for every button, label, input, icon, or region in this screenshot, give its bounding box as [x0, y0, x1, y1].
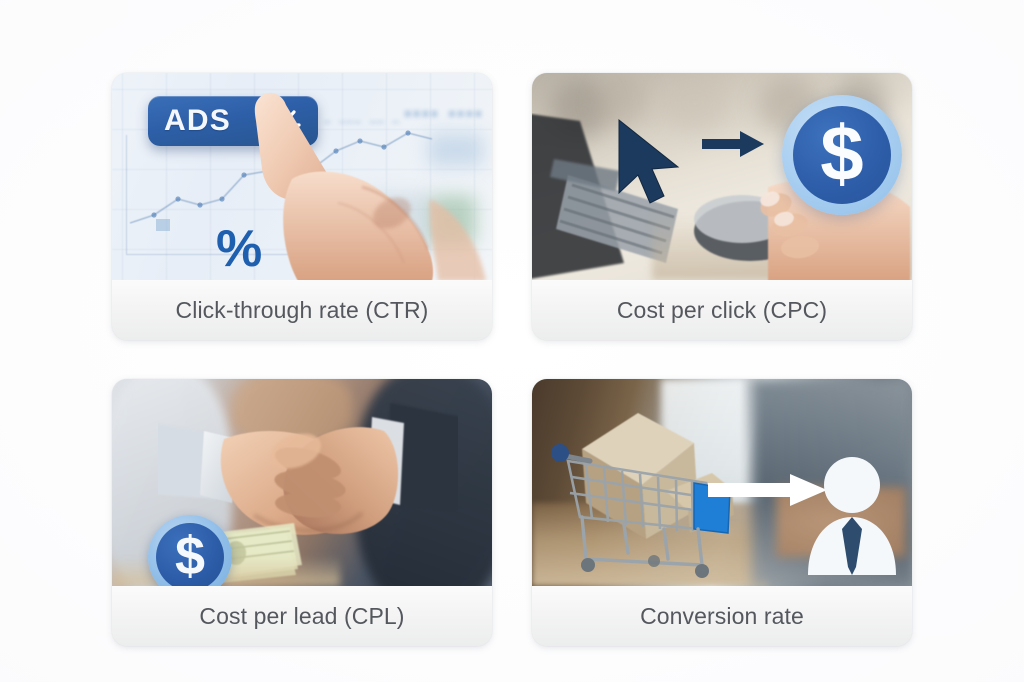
percent-icon: % [216, 223, 261, 275]
cpl-image: $ [112, 379, 492, 586]
right-arrow-icon [702, 129, 764, 159]
ads-button-label: ADS [164, 104, 231, 138]
metrics-card-grid: — ——— —— — ≡≡≡≡ ≡≡≡≡ ADS [112, 73, 912, 646]
ctr-caption-label: Click-through rate (CTR) [176, 297, 429, 324]
dollar-coin-icon: $ [148, 515, 232, 586]
coin-face: $ [793, 106, 891, 204]
pointing-hand-icon [242, 91, 492, 280]
mouse-cursor-icon [614, 117, 688, 207]
ctr-image: — ——— —— — ≡≡≡≡ ≡≡≡≡ ADS [112, 73, 492, 280]
cpc-image: $ [532, 73, 912, 280]
person-silhouette-icon [804, 455, 900, 575]
coin-face: $ [156, 523, 224, 586]
conversion-image [532, 379, 912, 586]
conversion-caption: Conversion rate [532, 586, 912, 646]
cpl-caption-label: Cost per lead (CPL) [199, 603, 404, 630]
conversion-caption-label: Conversion rate [640, 603, 804, 630]
metric-card-cpl[interactable]: $ Cost per lead (CPL) [112, 379, 492, 646]
metric-card-cpc[interactable]: $ Cost per click (CPC) [532, 73, 912, 340]
metric-card-conversion[interactable]: Conversion rate [532, 379, 912, 646]
cpc-caption-label: Cost per click (CPC) [617, 297, 827, 324]
dollar-coin-icon: $ [782, 95, 902, 215]
dollar-symbol: $ [175, 529, 205, 583]
cpc-caption: Cost per click (CPC) [532, 280, 912, 340]
dollar-symbol: $ [820, 114, 863, 192]
cpl-caption: Cost per lead (CPL) [112, 586, 492, 646]
metric-card-ctr[interactable]: — ——— —— — ≡≡≡≡ ≡≡≡≡ ADS [112, 73, 492, 340]
ctr-caption: Click-through rate (CTR) [112, 280, 492, 340]
page-root: — ——— —— — ≡≡≡≡ ≡≡≡≡ ADS [0, 0, 1024, 682]
